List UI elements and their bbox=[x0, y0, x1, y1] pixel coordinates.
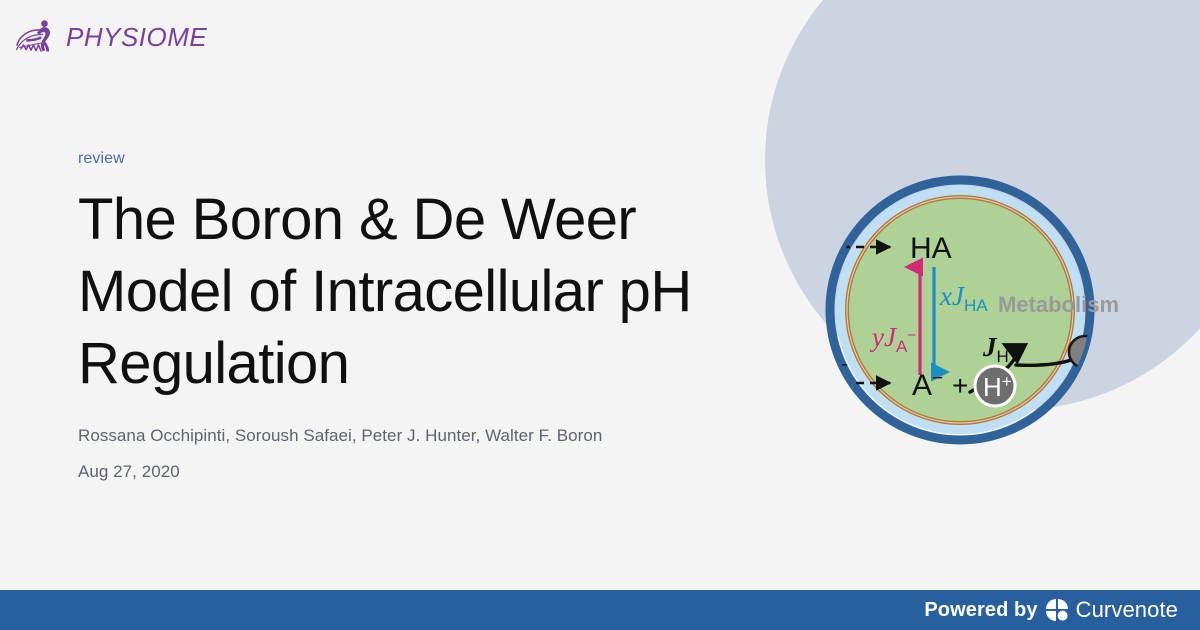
curvenote-mark-icon bbox=[1046, 599, 1068, 621]
powered-by-label: Powered by bbox=[924, 599, 1037, 622]
physiome-runner-icon bbox=[14, 18, 60, 56]
footer-bar: Powered by Curvenote bbox=[0, 590, 1200, 630]
publication-date: Aug 27, 2020 bbox=[78, 462, 718, 482]
social-card: PHYSIOME review The Boron & De Weer Mode… bbox=[0, 0, 1200, 630]
ha-species-label: HA bbox=[910, 232, 952, 265]
curvenote-wordmark: Curvenote bbox=[1076, 597, 1178, 623]
page-title: The Boron & De Weer Model of Intracellul… bbox=[78, 184, 718, 400]
metabolism-label: Metabolism bbox=[998, 292, 1119, 317]
powered-by-curvenote[interactable]: Powered by Curvenote bbox=[924, 590, 1178, 630]
article-kind-label: review bbox=[78, 150, 718, 168]
article-thumbnail-figure: . – HA xJHA yJA− bbox=[820, 160, 1120, 460]
physiome-wordmark: PHYSIOME bbox=[66, 22, 207, 53]
article-content: review The Boron & De Weer Model of Intr… bbox=[78, 150, 718, 482]
plus-sign-label: + bbox=[952, 370, 968, 401]
physiome-brand[interactable]: PHYSIOME bbox=[14, 18, 207, 56]
author-list: Rossana Occhipinti, Soroush Safaei, Pete… bbox=[78, 426, 718, 446]
